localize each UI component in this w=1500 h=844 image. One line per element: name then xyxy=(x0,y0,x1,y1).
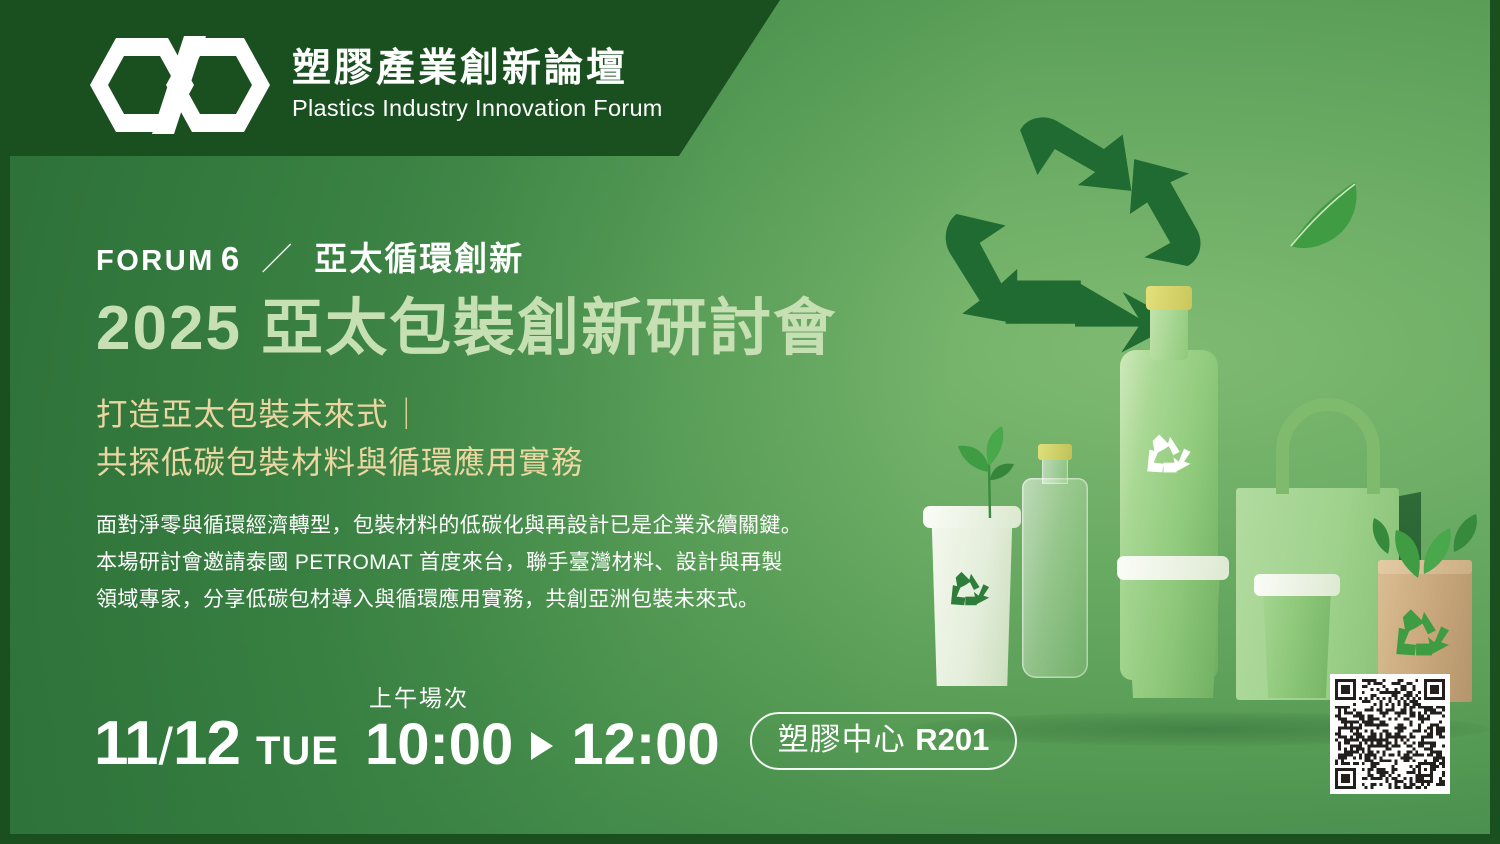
brand-name-en: Plastics Industry Innovation Forum xyxy=(292,94,663,123)
venue-name: 塑膠中心 xyxy=(778,722,906,757)
content-column: FORUM 6 ／ 亞太循環創新 2025 亞太包裝創新研討會 打造亞太包裝未來… xyxy=(96,232,946,619)
venue-badge: 塑膠中心 R201 xyxy=(750,712,1018,770)
kraft-pouch-top xyxy=(1378,560,1472,574)
green-paper-bag xyxy=(1236,488,1399,700)
hexagon-pair-slash-logo xyxy=(88,36,270,134)
large-green-bottle-neck xyxy=(1150,300,1188,360)
subtitle-line-1: 打造亞太包裝未來式 xyxy=(96,396,389,432)
clear-pet-bottle-body xyxy=(1022,478,1088,678)
event-date-day: 12 xyxy=(173,715,240,774)
event-time-end: 12:00 xyxy=(571,717,719,774)
event-time-block: 上午場次 10:00 12:00 xyxy=(365,717,720,774)
page-title: 2025 亞太包裝創新研討會 xyxy=(96,294,946,365)
description-line-2: 本場研討會邀請泰國 PETROMAT 首度來台，聯手臺灣材料、設計與再製 xyxy=(96,545,946,582)
recycle-arrows-icon xyxy=(948,568,994,610)
schedule-strip: 11/12 TUE 上午場次 10:00 12:00 塑膠中心 R201 xyxy=(94,712,1017,774)
qr-code-canvas xyxy=(1335,679,1445,789)
description: 面對淨零與循環經濟轉型，包裝材料的低碳化與再設計已是企業永續關鍵。 本場研討會邀… xyxy=(96,508,946,618)
brand-text: 塑膠產業創新論壇 Plastics Industry Innovation Fo… xyxy=(292,47,663,123)
recycle-arrows-icon xyxy=(1392,604,1456,662)
qr-code[interactable] xyxy=(1330,674,1450,794)
event-weekday: TUE xyxy=(256,731,339,771)
subtitle-line-2: 共探低碳包裝材料與循環應用實務 xyxy=(96,444,584,480)
subtitle-divider: ｜ xyxy=(389,396,426,432)
forum-label: FORUM xyxy=(96,245,215,278)
session-label: 上午場次 xyxy=(369,679,469,713)
forum-topic: 亞太循環創新 xyxy=(314,232,524,280)
event-time-range: 10:00 12:00 xyxy=(365,717,720,774)
leaf-icon xyxy=(1358,488,1488,584)
recycle-arrows-icon xyxy=(930,110,1220,370)
forum-number: 6 xyxy=(221,240,239,278)
poster-root: 塑膠產業創新論壇 Plastics Industry Innovation Fo… xyxy=(0,0,1500,844)
event-time-start: 10:00 xyxy=(365,717,513,774)
clear-pet-bottle-neck xyxy=(1042,450,1068,484)
recycle-arrows-icon xyxy=(1144,430,1196,478)
green-coffee-cup-small-body xyxy=(1260,588,1334,698)
forum-line: FORUM 6 ／ 亞太循環創新 xyxy=(96,232,946,280)
green-coffee-cup-large-lid xyxy=(1117,556,1229,580)
brand-lockup: 塑膠產業創新論壇 Plastics Industry Innovation Fo… xyxy=(88,36,663,134)
large-green-bottle-cap xyxy=(1146,286,1192,310)
brand-name-cn: 塑膠產業創新論壇 xyxy=(292,47,663,91)
event-date-month: 11 xyxy=(94,715,158,774)
plant-sprout-icon xyxy=(940,418,1036,518)
paper-bag-handle xyxy=(1276,398,1380,494)
subtitle: 打造亞太包裝未來式｜ 共探低碳包裝材料與循環應用實務 xyxy=(96,391,946,487)
description-line-1: 面對淨零與循環經濟轉型，包裝材料的低碳化與再設計已是企業永續關鍵。 xyxy=(96,508,946,545)
leaf-icon xyxy=(1265,160,1375,260)
clear-pet-bottle-cap xyxy=(1038,444,1072,460)
green-coffee-cup-large-body xyxy=(1123,572,1223,698)
green-coffee-cup-small-lid xyxy=(1254,574,1340,596)
green-paper-bag-side xyxy=(1399,492,1421,702)
description-line-3: 領域專家，分享低碳包材導入與循環應用實務，共創亞洲包裝未來式。 xyxy=(96,582,946,619)
venue-room: R201 xyxy=(915,722,989,757)
play-triangle-icon xyxy=(531,732,553,760)
event-date: 11/12 xyxy=(94,715,240,774)
large-green-bottle-body xyxy=(1120,350,1218,680)
forum-separator-icon: ／ xyxy=(261,234,292,279)
event-date-slash: / xyxy=(159,723,172,772)
poster-canvas: 塑膠產業創新論壇 Plastics Industry Innovation Fo… xyxy=(10,0,1490,834)
